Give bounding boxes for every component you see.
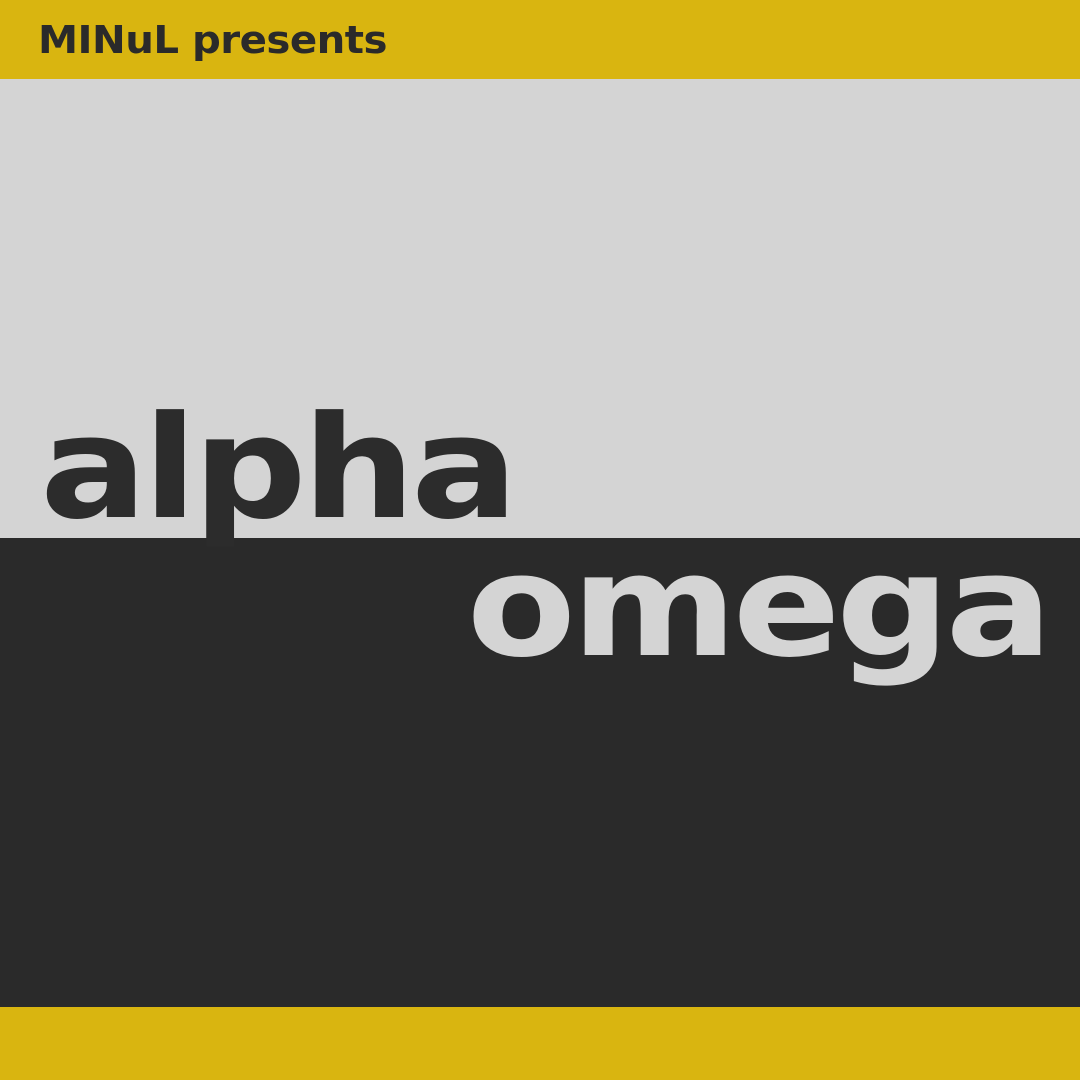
title-omega: omega xyxy=(466,538,1048,678)
dark-band-clip: omega xyxy=(0,538,1080,1007)
title-alpha: alpha xyxy=(40,398,514,540)
poster-canvas: MINuL presents alpha omega xyxy=(0,0,1080,1080)
footer-band xyxy=(0,1007,1080,1080)
presenter-strip: MINuL presents xyxy=(38,0,367,79)
presenter-label: MINuL presents xyxy=(38,21,387,59)
